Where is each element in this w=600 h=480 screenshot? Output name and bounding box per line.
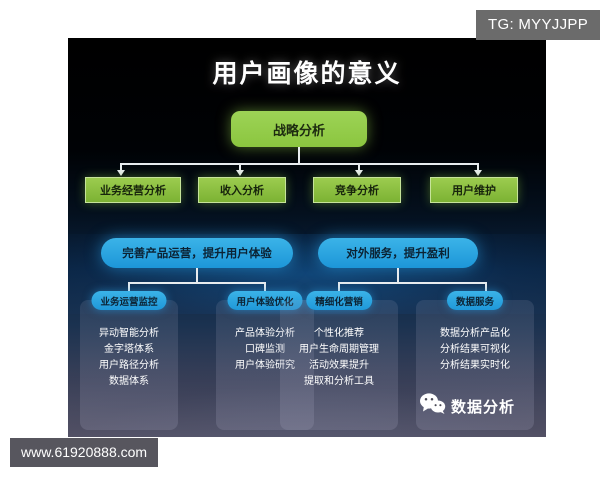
list-item: 异动智能分析 — [80, 326, 178, 342]
card-refined-marketing-list: 个性化推荐 用户生命周期管理 活动效果提升 提取和分析工具 — [280, 326, 398, 390]
connector-left-stem — [196, 268, 198, 282]
connector-right-bus — [338, 282, 486, 284]
node-external-service-profit-label: 对外服务，提升盈利 — [346, 245, 450, 261]
list-item: 活动效果提升 — [280, 358, 398, 374]
card-data-service-header: 数据服务 — [447, 291, 503, 310]
node-strategy-analysis[interactable]: 战略分析 — [231, 111, 367, 147]
card-business-operation-monitoring-header: 业务运营监控 — [91, 291, 166, 310]
arrow-row2-1 — [117, 170, 125, 176]
slide-canvas: 用户画像的意义 战略分析 业务经营分析 收入分析 竞争分析 用户维护 完善产品运… — [68, 38, 546, 437]
node-user-retention[interactable]: 用户维护 — [430, 177, 518, 203]
telegram-watermark: TG: MYYJJPP — [476, 10, 600, 40]
list-item: 用户路径分析 — [80, 358, 178, 374]
card-business-operation-monitoring[interactable]: 业务运营监控 异动智能分析 金字塔体系 用户路径分析 数据体系 — [80, 300, 178, 430]
page-title: 用户画像的意义 — [68, 54, 546, 90]
list-item: 数据分析产品化 — [416, 326, 534, 342]
arrow-row2-4 — [474, 170, 482, 176]
node-revenue-analysis-label: 收入分析 — [220, 182, 264, 198]
node-competition-analysis-label: 竞争分析 — [335, 182, 379, 198]
list-item: 分析结果可视化 — [416, 342, 534, 358]
node-improve-product-operation-label: 完善产品运营，提升用户体验 — [122, 245, 272, 261]
connector-row2-bus — [120, 163, 478, 165]
list-item: 用户生命周期管理 — [280, 342, 398, 358]
node-strategy-analysis-label: 战略分析 — [273, 120, 325, 139]
arrow-row2-2 — [236, 170, 244, 176]
connector-left-bus — [128, 282, 265, 284]
node-user-retention-label: 用户维护 — [452, 182, 496, 198]
connector-root-stem — [298, 147, 300, 163]
brand-badge: 数据分析 — [420, 393, 515, 419]
node-business-operation-analysis[interactable]: 业务经营分析 — [85, 177, 181, 203]
card-data-service-list: 数据分析产品化 分析结果可视化 分析结果实时化 — [416, 326, 534, 374]
brand-name: 数据分析 — [451, 396, 515, 417]
list-item: 提取和分析工具 — [280, 374, 398, 390]
node-improve-product-operation[interactable]: 完善产品运营，提升用户体验 — [101, 238, 293, 268]
list-item: 个性化推荐 — [280, 326, 398, 342]
connector-right-stem — [397, 268, 399, 282]
node-revenue-analysis[interactable]: 收入分析 — [198, 177, 286, 203]
arrow-row2-3 — [355, 170, 363, 176]
card-business-operation-monitoring-list: 异动智能分析 金字塔体系 用户路径分析 数据体系 — [80, 326, 178, 390]
wechat-icon — [420, 393, 446, 419]
list-item: 数据体系 — [80, 374, 178, 390]
card-refined-marketing-header: 精细化营销 — [306, 291, 372, 310]
card-refined-marketing[interactable]: 精细化营销 个性化推荐 用户生命周期管理 活动效果提升 提取和分析工具 — [280, 300, 398, 430]
node-competition-analysis[interactable]: 竞争分析 — [313, 177, 401, 203]
list-item: 金字塔体系 — [80, 342, 178, 358]
node-external-service-profit[interactable]: 对外服务，提升盈利 — [318, 238, 478, 268]
url-watermark: www.61920888.com — [10, 438, 158, 467]
node-business-operation-analysis-label: 业务经营分析 — [100, 182, 166, 198]
list-item: 分析结果实时化 — [416, 358, 534, 374]
